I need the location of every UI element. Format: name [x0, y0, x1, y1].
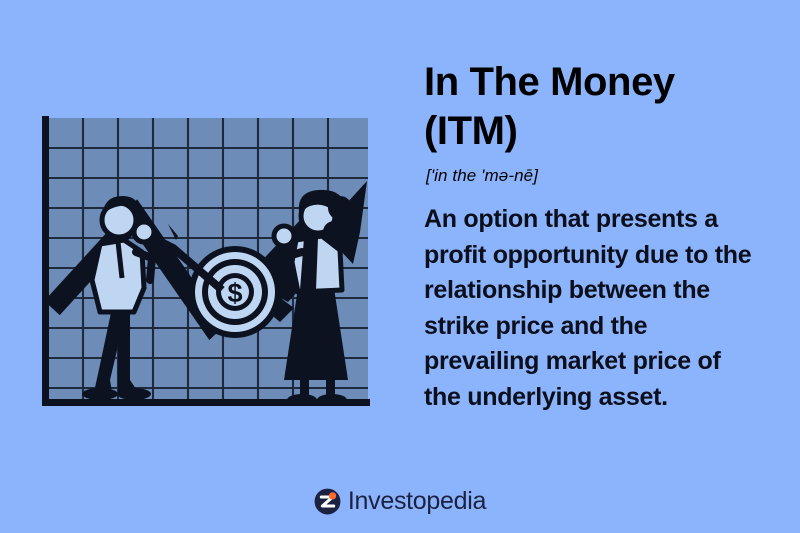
- chart-y-axis: [42, 116, 49, 406]
- investopedia-wordmark: Investopedia: [348, 488, 486, 515]
- chart-x-axis: [42, 399, 370, 406]
- bullseye-target-icon: $: [189, 246, 281, 338]
- text-column: In The Money (ITM) ['in the 'mə-nē] An o…: [424, 58, 776, 415]
- investopedia-logo: Investopedia: [0, 488, 800, 515]
- pronunciation: ['in the 'mə-nē]: [426, 166, 776, 186]
- definition-card: $: [0, 0, 800, 533]
- illustration-svg: $: [26, 112, 386, 422]
- stock-chart-illustration: $: [26, 112, 386, 422]
- investopedia-logo-icon: [314, 488, 341, 515]
- svg-text:$: $: [227, 278, 242, 308]
- term-definition: An option that presents a profit opportu…: [424, 202, 760, 415]
- term-title: In The Money (ITM): [424, 58, 776, 156]
- dollar-sign-icon: $: [227, 278, 242, 308]
